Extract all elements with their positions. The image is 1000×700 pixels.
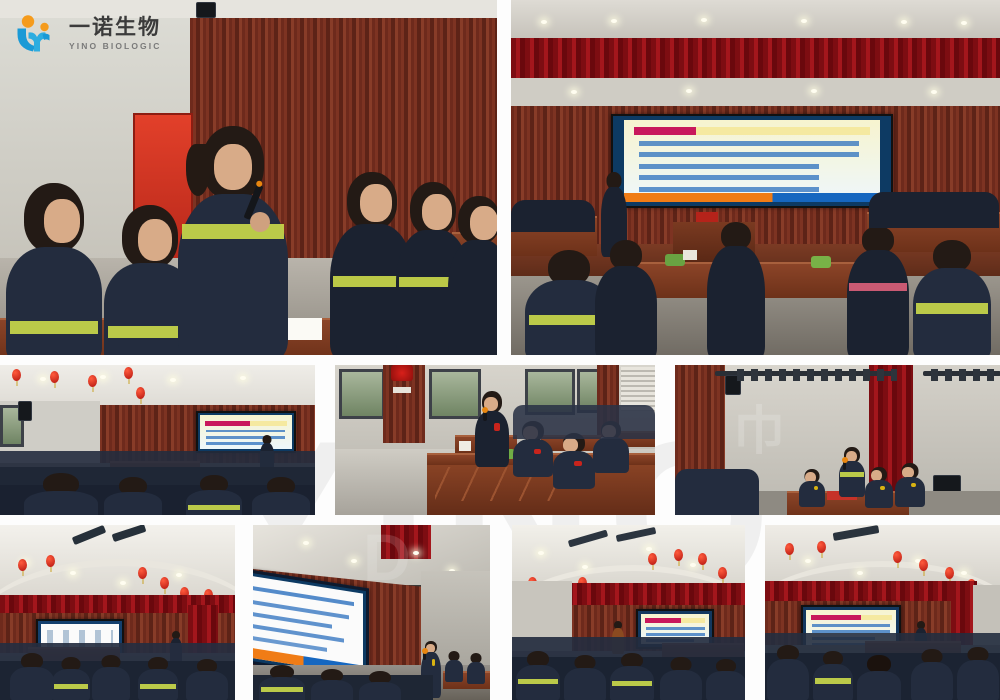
person-seated-1 xyxy=(445,651,463,681)
slide-title-band xyxy=(811,615,892,621)
torso xyxy=(178,194,288,355)
photo-9-scene xyxy=(765,525,1000,700)
lantern xyxy=(124,367,133,379)
lantern xyxy=(18,559,27,571)
person-standing-with-mic xyxy=(475,391,509,463)
downlight xyxy=(801,19,807,23)
face xyxy=(683,475,695,487)
chinese-knot-decoration xyxy=(391,365,413,381)
downlight xyxy=(571,90,577,94)
audience-near-3 xyxy=(610,653,654,700)
lantern xyxy=(817,541,826,553)
reflective-stripe xyxy=(916,303,988,314)
audience-rear-cluster xyxy=(513,405,655,439)
chest-badge xyxy=(814,486,819,490)
reflective-stripe xyxy=(140,684,177,689)
audience-near-1 xyxy=(767,645,809,700)
face xyxy=(44,199,80,243)
reflective-stripe xyxy=(840,472,864,477)
torso xyxy=(259,677,305,700)
person-seated-1 xyxy=(6,183,102,355)
torso xyxy=(564,668,606,700)
plant-1 xyxy=(665,254,685,266)
photo-collage: YINO xyxy=(0,0,1000,700)
person-seated-front-2 xyxy=(553,433,595,483)
lantern xyxy=(88,375,97,387)
audience-near-4 xyxy=(138,657,178,700)
logo-text: 一诺生物 YINO BIOLOGIC xyxy=(69,17,161,51)
torso xyxy=(857,671,901,700)
chest-badge xyxy=(880,486,885,490)
plant-2 xyxy=(811,256,831,268)
face xyxy=(727,475,739,487)
slide-line xyxy=(639,175,818,180)
photo-9[interactable] xyxy=(765,525,1000,700)
audience-near-4 xyxy=(660,657,702,700)
audience-back-3 xyxy=(707,222,765,355)
person-standing-with-mic xyxy=(839,447,865,495)
person-seated-3 xyxy=(895,463,925,505)
projection-screen xyxy=(611,114,893,208)
downlight xyxy=(961,21,967,25)
slide-line xyxy=(639,164,818,169)
audience-near-2 xyxy=(813,651,853,700)
downlight xyxy=(901,20,907,24)
face xyxy=(705,473,717,485)
downlight xyxy=(351,559,357,563)
torso xyxy=(865,480,893,508)
photo-5-scene: 巾 xyxy=(675,365,1000,515)
lantern xyxy=(648,553,657,565)
downlight xyxy=(120,581,126,585)
slide-footer-bar xyxy=(624,193,880,202)
downlight xyxy=(690,563,696,567)
photo-4[interactable] xyxy=(335,365,655,515)
downlight xyxy=(701,18,707,22)
microphone xyxy=(483,411,487,421)
torso xyxy=(595,266,657,355)
torso xyxy=(186,671,228,700)
audience-near-2 xyxy=(104,477,162,515)
downlight xyxy=(176,573,182,577)
logo-figure-accent xyxy=(43,34,50,41)
torso xyxy=(467,662,485,684)
upper-wall xyxy=(511,78,1000,108)
photo-7[interactable]: D xyxy=(253,525,490,700)
logo-figure-left xyxy=(18,29,36,52)
lantern xyxy=(160,577,169,589)
audience-near-4 xyxy=(911,649,953,700)
downlight xyxy=(100,375,106,379)
speaker xyxy=(18,401,32,421)
lantern xyxy=(945,567,954,579)
torso xyxy=(847,250,909,355)
photo-8-scene xyxy=(512,525,745,700)
audience-back-2 xyxy=(595,240,657,355)
photo-3[interactable] xyxy=(0,365,315,515)
person-seated-2 xyxy=(865,467,893,505)
torso xyxy=(138,669,178,700)
torso xyxy=(767,659,809,700)
stage-lights xyxy=(737,369,897,381)
audience-near-5 xyxy=(957,647,999,700)
downlight xyxy=(805,559,811,563)
reflective-stripe xyxy=(261,687,303,691)
photo-6[interactable] xyxy=(0,525,235,700)
torso xyxy=(52,669,90,700)
torso xyxy=(445,660,463,682)
tissue-box xyxy=(459,441,471,451)
side-audience-left xyxy=(511,192,595,228)
reflective-stripe xyxy=(518,679,559,684)
torso xyxy=(610,666,654,700)
chest-badge xyxy=(911,483,916,487)
face xyxy=(470,206,497,240)
door-sign xyxy=(393,387,411,393)
projection-screen xyxy=(196,411,296,453)
face xyxy=(360,184,392,222)
audience-near-1 xyxy=(24,473,98,515)
torso xyxy=(553,451,595,489)
audience-near-2 xyxy=(564,655,606,700)
slide-line xyxy=(639,187,818,192)
audience-back-4 xyxy=(847,226,909,355)
audience-near-4 xyxy=(252,477,310,515)
logo-orange-dot-small xyxy=(40,23,48,31)
audience-near-3 xyxy=(186,475,242,515)
logo-english-name: YINO BIOLOGIC xyxy=(69,42,161,51)
reflective-stripe xyxy=(54,684,89,689)
torso xyxy=(511,200,595,232)
hand xyxy=(250,212,270,232)
torso xyxy=(311,680,353,700)
downlight xyxy=(857,571,863,575)
audience-back-5 xyxy=(913,240,991,355)
stage-lights-right xyxy=(931,369,1000,381)
audience-near-5 xyxy=(186,659,228,700)
right-wall xyxy=(913,365,1000,493)
lantern xyxy=(138,567,147,579)
downlight xyxy=(961,571,967,575)
torso xyxy=(895,477,925,507)
lantern xyxy=(919,559,928,571)
photo-8[interactable] xyxy=(512,525,745,700)
reflective-stripe xyxy=(188,505,240,510)
lantern xyxy=(893,551,902,563)
downlight xyxy=(686,89,692,93)
torso xyxy=(6,247,102,355)
lantern xyxy=(136,387,145,399)
downlight xyxy=(70,571,76,575)
photo-3-scene xyxy=(0,365,315,515)
torso xyxy=(911,662,953,700)
downlight xyxy=(413,551,419,555)
torso xyxy=(186,490,242,515)
person-seated-1 xyxy=(799,469,825,505)
audience-front-2 xyxy=(311,669,353,700)
chest-badge xyxy=(494,423,500,431)
podium-logo xyxy=(696,212,718,222)
slide-line xyxy=(206,430,285,433)
person-seated-5 xyxy=(448,196,497,355)
torso xyxy=(707,246,765,355)
person-seated-2 xyxy=(467,653,485,683)
downlight xyxy=(40,377,46,381)
downlight xyxy=(811,89,817,93)
lantern xyxy=(718,567,727,579)
face xyxy=(138,219,172,261)
chest-badge xyxy=(574,461,582,466)
microphone xyxy=(843,461,846,470)
torso xyxy=(660,670,702,700)
torso xyxy=(913,268,991,355)
slide-title-band xyxy=(645,618,705,623)
torso xyxy=(593,437,629,473)
ponytail xyxy=(186,144,210,196)
audience-near-5 xyxy=(706,659,745,700)
window-1 xyxy=(339,369,385,419)
slide-line xyxy=(646,627,704,630)
logo-orange-dot-large xyxy=(22,15,34,27)
lantern xyxy=(698,553,707,565)
reflective-stripe xyxy=(612,681,653,686)
photo-7-scene: D xyxy=(253,525,490,700)
chest-badge xyxy=(534,449,541,454)
reflective-stripe xyxy=(10,321,98,335)
downlight xyxy=(582,565,588,569)
slide-title-band xyxy=(205,421,288,426)
window-2 xyxy=(429,369,481,419)
torso xyxy=(104,492,162,515)
photo-4-scene xyxy=(335,365,655,515)
photo-6-scene xyxy=(0,525,235,700)
torso xyxy=(252,492,310,515)
logo-mark-icon xyxy=(14,14,60,54)
logo-chinese-name: 一诺生物 xyxy=(69,17,161,38)
downlight xyxy=(541,20,547,24)
audience-near-1 xyxy=(516,651,560,700)
downlight xyxy=(646,547,652,551)
photo-2[interactable] xyxy=(511,0,1000,355)
torso xyxy=(957,660,999,700)
slide-line xyxy=(639,141,859,146)
slide xyxy=(624,120,880,203)
torso xyxy=(359,682,401,700)
slide xyxy=(200,415,292,449)
audience-front-3 xyxy=(359,671,401,700)
lantern xyxy=(785,543,794,555)
company-logo[interactable]: 一诺生物 YINO BIOLOGIC xyxy=(14,14,161,54)
downlight xyxy=(240,376,246,380)
downlight xyxy=(170,378,176,382)
ceiling-speaker xyxy=(196,2,216,18)
stage-curtain-valance xyxy=(511,38,1000,80)
slide-line xyxy=(646,633,704,636)
torso xyxy=(448,240,497,355)
side-audience-right xyxy=(869,186,999,226)
slide-line xyxy=(639,152,859,157)
reflective-stripe xyxy=(849,283,906,291)
torso xyxy=(706,671,745,700)
face xyxy=(563,438,578,452)
reflective-stripe xyxy=(815,678,852,683)
photo-2-scene xyxy=(511,0,1000,355)
chest-badge xyxy=(432,659,436,665)
upper-curtain xyxy=(381,525,431,559)
torso xyxy=(869,192,999,228)
lantern xyxy=(12,369,21,381)
audience-front-1 xyxy=(259,665,305,700)
torso xyxy=(24,491,98,515)
torso xyxy=(813,664,853,700)
downlight xyxy=(303,541,309,545)
lantern xyxy=(50,371,59,383)
torso xyxy=(516,665,560,700)
face xyxy=(214,144,252,190)
ceiling xyxy=(511,0,1000,42)
audience-near-3 xyxy=(857,655,901,700)
microphone xyxy=(423,652,426,660)
torso xyxy=(10,667,54,700)
torso xyxy=(475,411,509,467)
person-speaking-with-mic xyxy=(178,126,288,355)
downlight xyxy=(931,90,937,94)
lantern xyxy=(674,549,683,561)
audience-near-1 xyxy=(10,653,54,700)
lantern xyxy=(46,555,55,567)
tissue-box xyxy=(683,250,697,260)
slide-title-band xyxy=(634,127,869,134)
downlight xyxy=(538,551,544,555)
torso xyxy=(799,481,825,507)
downlight xyxy=(611,19,617,23)
torso xyxy=(92,667,130,700)
audience-near-2 xyxy=(52,657,90,700)
photo-5[interactable]: 巾 xyxy=(675,365,1000,515)
torso xyxy=(513,439,553,477)
slide-line xyxy=(812,624,889,627)
audience-near-3 xyxy=(92,655,130,700)
slide xyxy=(253,574,363,676)
